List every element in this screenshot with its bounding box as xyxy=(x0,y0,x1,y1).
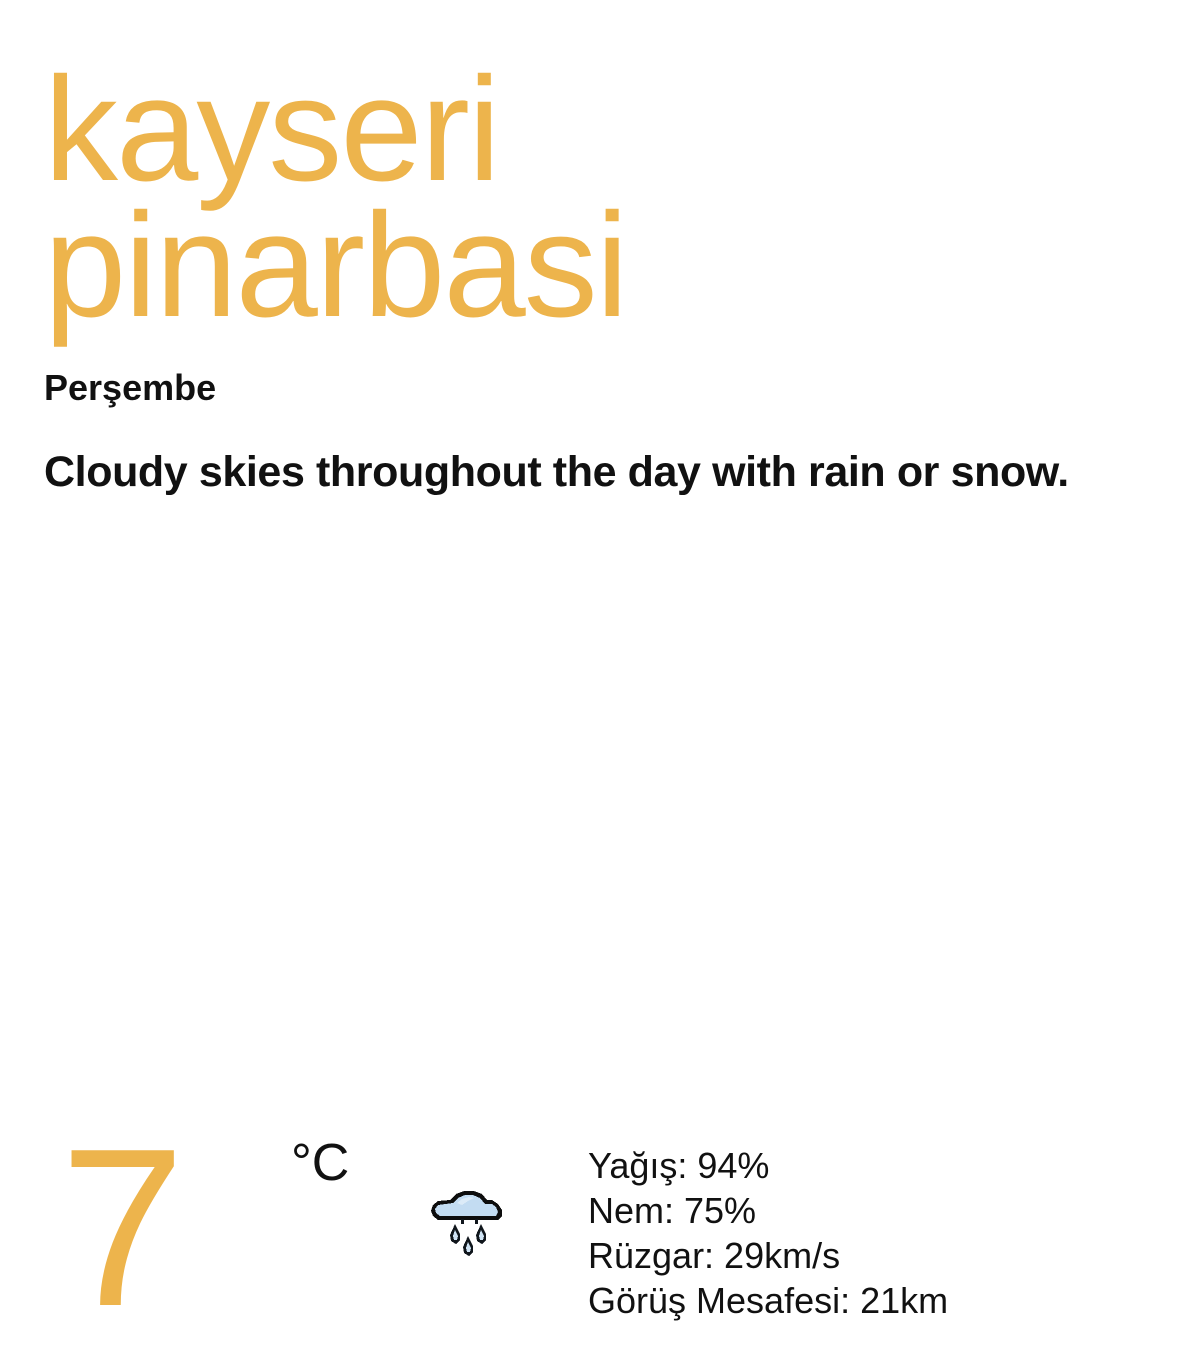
day-name-label: Perşembe xyxy=(44,370,216,406)
weather-details-list: Yağış: 94% Nem: 75% Rüzgar: 29km/s Görüş… xyxy=(588,1143,1148,1323)
detail-visibility: Görüş Mesafesi: 21km xyxy=(588,1278,1148,1323)
forecast-description: Cloudy skies throughout the day with rai… xyxy=(44,450,1164,495)
current-conditions-row: 7 °C xyxy=(0,560,1200,800)
temperature-unit: °C xyxy=(291,1137,349,1189)
weather-card: kayseri pinarbasi Perşembe Cloudy skies … xyxy=(0,0,1200,1200)
rain-cloud-icon xyxy=(424,1178,512,1258)
detail-humidity: Nem: 75% xyxy=(588,1188,1148,1233)
detail-precipitation: Yağış: 94% xyxy=(588,1143,1148,1188)
temperature-value: 7 xyxy=(60,1115,181,1340)
page-title: kayseri pinarbasi xyxy=(44,62,1154,334)
detail-wind: Rüzgar: 29km/s xyxy=(588,1233,1148,1278)
